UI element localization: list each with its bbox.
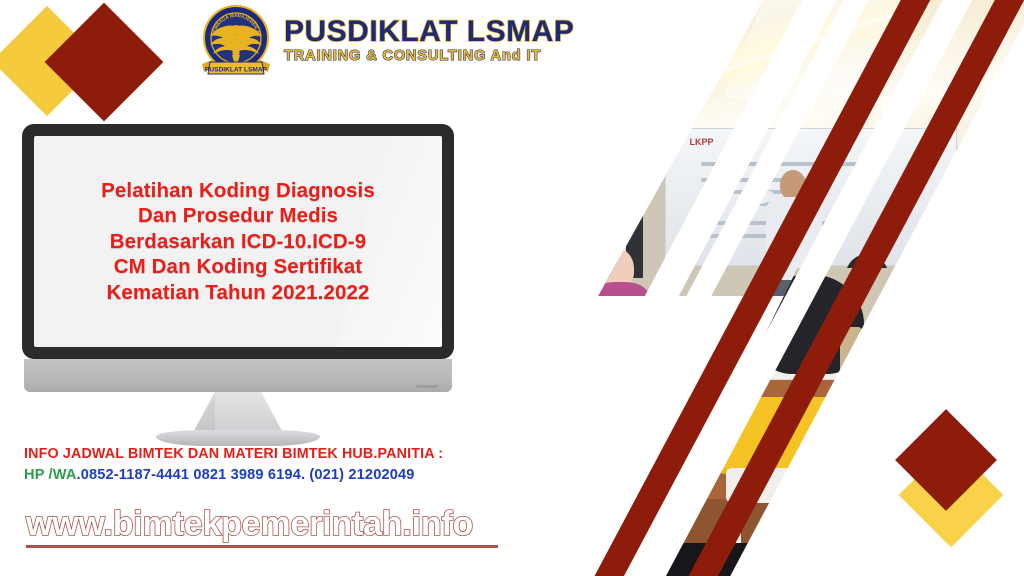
pusdiklat-seal-icon: LEMBAGA MANAJEMEN AKUNTANSI DAN PERPAJAK…	[196, 2, 276, 84]
phone-numbers: .0852-1187-4441 0821 3989 6194. (021) 21…	[77, 467, 415, 483]
phone-line: HP /WA.0852-1187-4441 0821 3989 6194. (0…	[24, 467, 443, 483]
monitor-graphic: Pelatihan Koding Diagnosis Dan Prosedur …	[22, 124, 454, 424]
projector-logo: LKPP	[690, 137, 714, 147]
info-line: INFO JADWAL BIMTEK DAN MATERI BIMTEK HUB…	[24, 446, 443, 462]
website-underline	[26, 545, 498, 548]
contact-block: INFO JADWAL BIMTEK DAN MATERI BIMTEK HUB…	[24, 446, 443, 483]
svg-text:PUSDIKLAT LSMAP: PUSDIKLAT LSMAP	[205, 67, 268, 74]
monitor-screen: Pelatihan Koding Diagnosis Dan Prosedur …	[34, 136, 442, 347]
website-url[interactable]: www.bimtekpemerintah.info	[26, 505, 473, 544]
course-title: Pelatihan Koding Diagnosis Dan Prosedur …	[91, 178, 385, 305]
title-line: Kematian Tahun 2021.2022	[101, 280, 375, 305]
title-line: Berdasarkan ICD-10.ICD-9	[101, 229, 375, 254]
hp-wa-label: HP /WA	[24, 467, 77, 483]
title-line: Pelatihan Koding Diagnosis	[101, 178, 375, 203]
promotional-banner: LKPP	[0, 0, 1024, 576]
brand-header: LEMBAGA MANAJEMEN AKUNTANSI DAN PERPAJAK…	[196, 2, 574, 84]
monitor-stand-base	[156, 430, 320, 446]
brand-wordmark: PUSDIKLAT LSMAP TRAINING & CONSULTING An…	[284, 17, 574, 65]
title-line: CM Dan Koding Sertifikat	[101, 254, 375, 279]
brand-tagline: TRAINING & CONSULTING And IT	[284, 48, 574, 65]
monitor-chin	[24, 359, 452, 392]
monitor-bezel: Pelatihan Koding Diagnosis Dan Prosedur …	[22, 124, 454, 359]
brand-name: PUSDIKLAT LSMAP	[284, 17, 574, 47]
title-line: Dan Prosedur Medis	[101, 203, 375, 228]
